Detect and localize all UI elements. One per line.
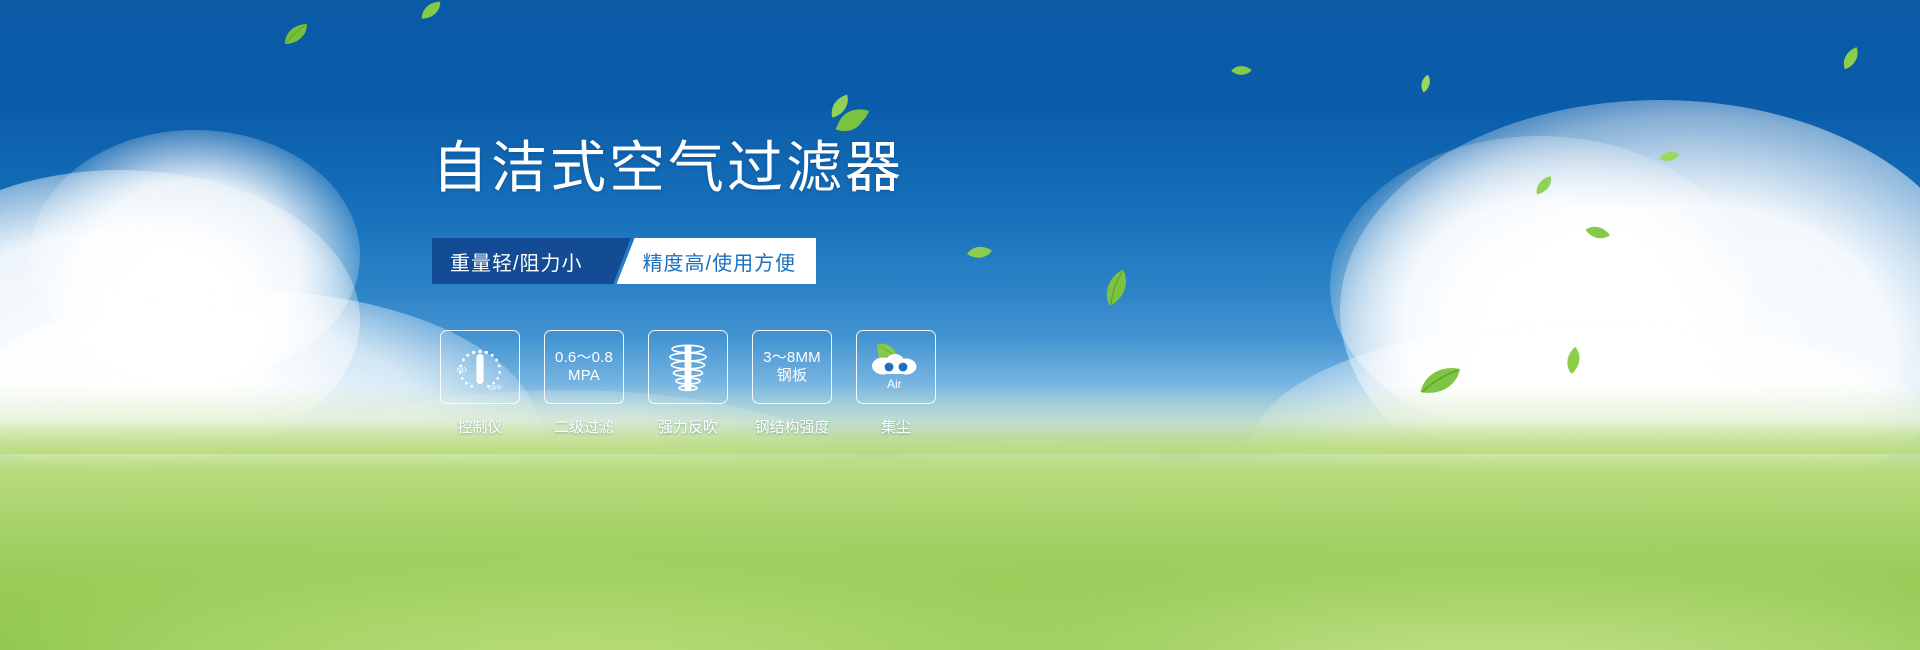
feature-item-strong-backblow[interactable]: 强力反吹 — [648, 330, 728, 437]
banner-content: 自洁式空气过滤器 重量轻/阻力小 精度高/使用方便 — [0, 0, 1920, 650]
feature-item-steel-structure-strength[interactable]: 3～8MM 钢板 钢结构强度 — [752, 330, 832, 437]
feature-box: 0.6～0.8 MPA — [544, 330, 624, 404]
pressure-value: 0.6～0.8 — [555, 349, 613, 367]
air-label: Air — [887, 377, 902, 391]
feature-box: Air — [856, 330, 936, 404]
page-title: 自洁式空气过滤器 — [432, 140, 904, 196]
feature-label: 强力反吹 — [658, 416, 718, 437]
feature-label: 控制仪 — [457, 416, 502, 437]
tab-lightweight-lowresistance[interactable]: 重量轻/阻力小 — [432, 238, 605, 284]
feature-item-dust-collection[interactable]: Air 集尘 — [856, 330, 936, 437]
pressure-unit: MPA — [568, 367, 600, 385]
tab-highprecision-easyuse[interactable]: 精度高/使用方便 — [617, 238, 817, 284]
feature-icon-row: NO OFF 控制仪 0.6～0.8 MPA 二级过滤 — [440, 330, 936, 437]
steel-material: 钢板 — [777, 367, 807, 385]
tab-group: 重量轻/阻力小 精度高/使用方便 — [432, 238, 816, 284]
control-dial-icon: NO OFF — [449, 339, 511, 395]
dial-off-label: OFF — [489, 385, 502, 392]
hero-banner: 自洁式空气过滤器 重量轻/阻力小 精度高/使用方便 — [0, 0, 1920, 650]
feature-label: 钢结构强度 — [754, 416, 829, 437]
spiral-filter-icon — [662, 339, 714, 395]
feature-item-control-instrument[interactable]: NO OFF 控制仪 — [440, 330, 520, 437]
dial-on-label: NO — [457, 367, 467, 374]
feature-box: NO OFF — [440, 330, 520, 404]
feature-box: 3～8MM 钢板 — [752, 330, 832, 404]
feature-item-two-stage-filtration[interactable]: 0.6～0.8 MPA 二级过滤 — [544, 330, 624, 437]
cloud-air-icon: Air — [865, 340, 927, 394]
feature-label: 集尘 — [881, 416, 911, 437]
feature-box — [648, 330, 728, 404]
feature-label: 二级过滤 — [554, 416, 614, 437]
steel-thickness: 3～8MM — [763, 349, 821, 367]
